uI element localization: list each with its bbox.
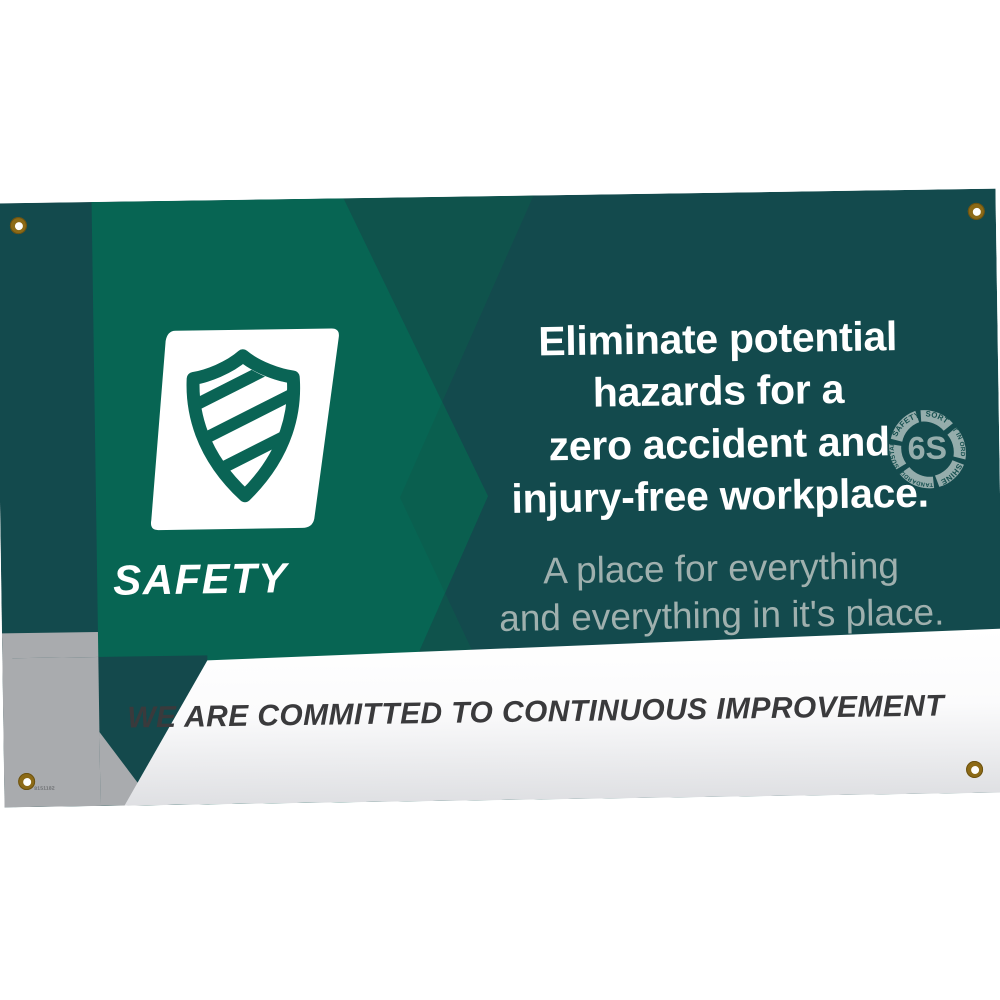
headline-line-1: Eliminate potential — [467, 309, 968, 369]
image-canvas: SAFETY Eliminate potential hazards for a… — [0, 0, 1000, 1000]
subheadline: A place for everything and everything in… — [471, 541, 972, 643]
6s-logo: SAFETY SORT SET IN ORDER SHINE STANDARDI… — [875, 397, 981, 503]
shield-icon — [145, 322, 343, 535]
safety-banner: SAFETY Eliminate potential hazards for a… — [0, 189, 1000, 808]
6s-center-label: 6S — [907, 430, 947, 467]
subheadline-line-1: A place for everything — [471, 541, 972, 596]
product-code-microtext: 8151182 — [34, 786, 55, 792]
subheadline-line-2: and everything in it's place. — [471, 588, 972, 643]
safety-icon-tile — [145, 322, 343, 535]
safety-category-label: SAFETY — [113, 552, 434, 605]
